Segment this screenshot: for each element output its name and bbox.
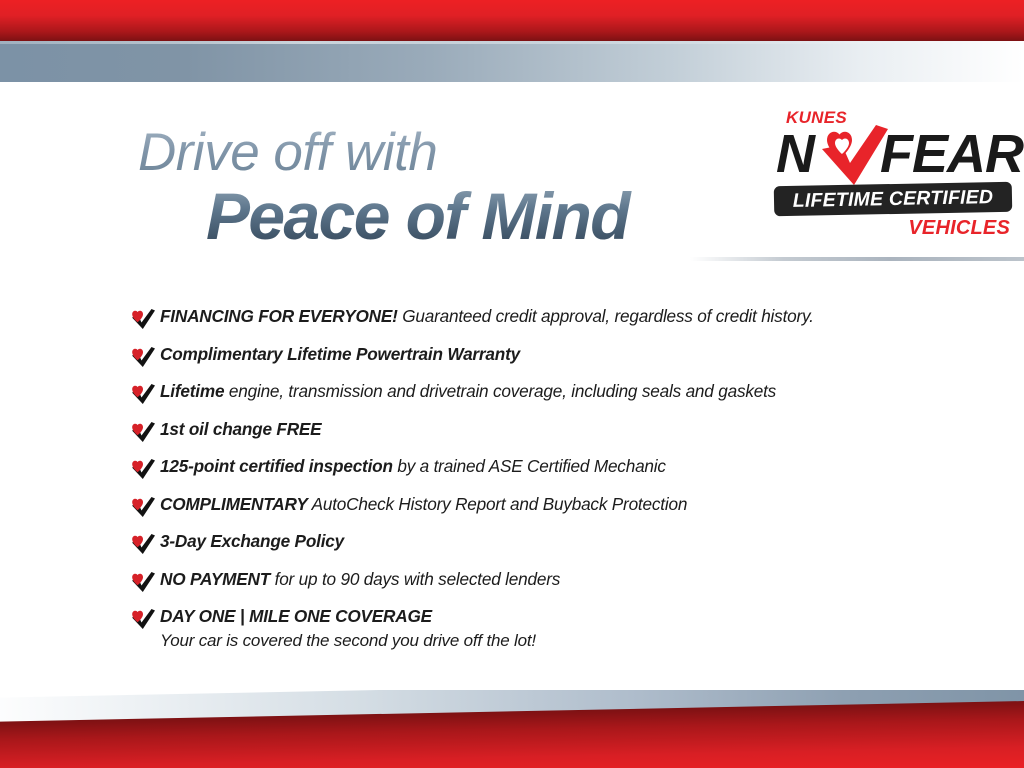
benefit-text: FINANCING FOR EVERYONE! Guaranteed credi…: [160, 307, 950, 327]
benefit-lead: Complimentary Lifetime Powertrain Warran…: [160, 344, 520, 364]
heart-check-icon: [130, 383, 156, 405]
benefit-subtext: Your car is covered the second you drive…: [160, 630, 950, 652]
benefit-rest: for up to 90 days with selected lenders: [270, 569, 560, 589]
top-gray-gradient-bar: [0, 41, 1024, 82]
benefit-item: Lifetime engine, transmission and drivet…: [130, 382, 950, 405]
benefit-item: FINANCING FOR EVERYONE! Guaranteed credi…: [130, 307, 950, 330]
heart-check-icon: [130, 608, 156, 630]
heart-check-icon: [130, 571, 156, 593]
logo-banner-text: LIFETIME CERTIFIED: [793, 186, 994, 213]
logo-word-fear: FEAR: [880, 125, 1023, 183]
benefit-body: NO PAYMENT for up to 90 days with select…: [156, 570, 950, 590]
logo-wordmark: N FEAR: [776, 125, 1016, 183]
benefit-item: DAY ONE | MILE ONE COVERAGEYour car is c…: [130, 607, 950, 652]
benefit-text: 3-Day Exchange Policy: [160, 532, 950, 552]
logo-letter-n: N: [776, 125, 813, 183]
benefit-body: Lifetime engine, transmission and drivet…: [156, 382, 950, 402]
benefit-rest: Guaranteed credit approval, regardless o…: [398, 306, 814, 326]
heart-check-icon: [130, 346, 156, 368]
logo-word-vehicles: VEHICLES: [908, 217, 1010, 240]
heart-check-icon: [130, 458, 156, 480]
bottom-banner: [0, 690, 1024, 768]
benefit-lead: NO PAYMENT: [160, 569, 270, 589]
heart-check-icon: [130, 533, 156, 555]
benefit-body: DAY ONE | MILE ONE COVERAGEYour car is c…: [156, 607, 950, 652]
benefit-item: Complimentary Lifetime Powertrain Warran…: [130, 345, 950, 368]
logo-lifetime-certified-banner: LIFETIME CERTIFIED: [774, 182, 1013, 217]
benefit-rest: engine, transmission and drivetrain cove…: [224, 381, 776, 401]
benefit-body: 1st oil change FREE: [156, 420, 950, 440]
benefit-body: 3-Day Exchange Policy: [156, 532, 950, 552]
benefit-text: 125-point certified inspection by a trai…: [160, 457, 950, 477]
benefit-text: 1st oil change FREE: [160, 420, 950, 440]
headline-line-1: Drive off with: [138, 126, 758, 180]
benefit-lead: Lifetime: [160, 381, 224, 401]
heart-check-icon: [130, 496, 156, 518]
benefit-lead: FINANCING FOR EVERYONE!: [160, 306, 398, 326]
top-bar-highlight: [0, 41, 1024, 44]
benefit-item: 125-point certified inspection by a trai…: [130, 457, 950, 480]
benefits-list: FINANCING FOR EVERYONE! Guaranteed credi…: [130, 307, 950, 667]
benefit-body: 125-point certified inspection by a trai…: [156, 457, 950, 477]
benefit-rest: by a trained ASE Certified Mechanic: [393, 456, 666, 476]
benefit-body: COMPLIMENTARY AutoCheck History Report a…: [156, 495, 950, 515]
benefit-lead: 1st oil change FREE: [160, 419, 321, 439]
benefit-lead: 3-Day Exchange Policy: [160, 531, 344, 551]
benefit-text: Lifetime engine, transmission and drivet…: [160, 382, 950, 402]
headline-block: Drive off with Peace of Mind: [138, 126, 758, 251]
benefit-item: 3-Day Exchange Policy: [130, 532, 950, 555]
benefit-rest: AutoCheck History Report and Buyback Pro…: [308, 494, 688, 514]
benefit-lead: COMPLIMENTARY: [160, 494, 308, 514]
top-red-bar: [0, 0, 1024, 41]
header-divider: [690, 257, 1024, 261]
benefit-body: FINANCING FOR EVERYONE! Guaranteed credi…: [156, 307, 950, 327]
benefit-text: Complimentary Lifetime Powertrain Warran…: [160, 345, 950, 365]
benefit-lead: 125-point certified inspection: [160, 456, 393, 476]
benefit-item: NO PAYMENT for up to 90 days with select…: [130, 570, 950, 593]
benefit-text: NO PAYMENT for up to 90 days with select…: [160, 570, 950, 590]
benefit-text: DAY ONE | MILE ONE COVERAGE: [160, 607, 950, 627]
benefit-body: Complimentary Lifetime Powertrain Warran…: [156, 345, 950, 365]
heart-check-icon: [130, 308, 156, 330]
benefit-lead: DAY ONE | MILE ONE COVERAGE: [160, 606, 432, 626]
benefit-item: COMPLIMENTARY AutoCheck History Report a…: [130, 495, 950, 518]
headline-line-2: Peace of Mind: [206, 182, 758, 251]
heart-check-icon: [130, 421, 156, 443]
benefit-item: 1st oil change FREE: [130, 420, 950, 443]
kunes-no-fear-logo: KUNES N FEAR LIFETIME CERTIFIED VEHICLES: [768, 108, 1016, 243]
benefit-text: COMPLIMENTARY AutoCheck History Report a…: [160, 495, 950, 515]
